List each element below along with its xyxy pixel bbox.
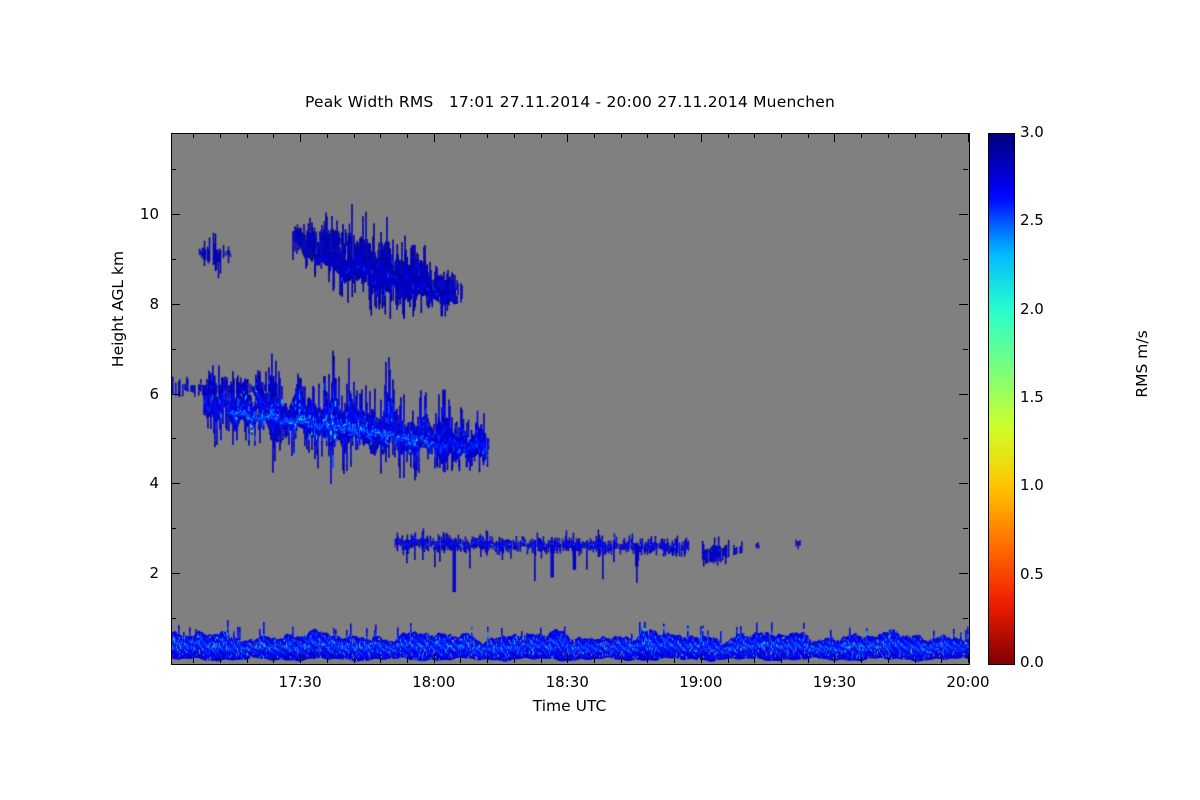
x-minor-tick bbox=[781, 658, 782, 663]
y-major-tick bbox=[171, 483, 180, 484]
x-minor-tick-top bbox=[541, 133, 542, 138]
y-tick-label: 10 bbox=[125, 205, 159, 223]
x-minor-tick-top bbox=[621, 133, 622, 138]
y-major-tick bbox=[171, 394, 180, 395]
y-axis-title: Height AGL km bbox=[109, 189, 127, 429]
x-minor-tick bbox=[647, 658, 648, 663]
colorbar-tick-label: 2.5 bbox=[1020, 211, 1066, 229]
y-minor-tick bbox=[171, 259, 176, 260]
x-minor-tick bbox=[220, 658, 221, 663]
x-minor-tick-top bbox=[888, 133, 889, 138]
x-minor-tick bbox=[193, 658, 194, 663]
x-minor-tick bbox=[674, 658, 675, 663]
x-minor-tick bbox=[915, 658, 916, 663]
colorbar-tick-label: 0.0 bbox=[1020, 653, 1066, 671]
y-major-tick-right bbox=[959, 304, 968, 305]
x-major-tick bbox=[434, 654, 435, 663]
y-minor-tick-right bbox=[963, 438, 968, 439]
x-tick-label: 19:00 bbox=[666, 673, 736, 691]
x-minor-tick bbox=[888, 658, 889, 663]
y-major-tick bbox=[171, 214, 180, 215]
x-minor-tick-top bbox=[674, 133, 675, 138]
x-minor-tick-top bbox=[861, 133, 862, 138]
heatmap-canvas bbox=[172, 134, 969, 664]
x-minor-tick-top bbox=[808, 133, 809, 138]
x-minor-tick bbox=[354, 658, 355, 663]
x-minor-tick bbox=[407, 658, 408, 663]
plot-area bbox=[171, 133, 970, 665]
x-minor-tick-top bbox=[220, 133, 221, 138]
y-minor-tick-right bbox=[963, 169, 968, 170]
colorbar-title: RMS m/s bbox=[1133, 294, 1151, 434]
x-minor-tick bbox=[487, 658, 488, 663]
x-major-tick-top bbox=[567, 133, 568, 142]
x-minor-tick bbox=[514, 658, 515, 663]
x-minor-tick-top bbox=[460, 133, 461, 138]
x-minor-tick bbox=[380, 658, 381, 663]
x-minor-tick bbox=[808, 658, 809, 663]
y-minor-tick bbox=[171, 618, 176, 619]
x-axis-title: Time UTC bbox=[171, 697, 968, 715]
colorbar bbox=[988, 133, 1015, 665]
y-minor-tick bbox=[171, 169, 176, 170]
y-minor-tick-right bbox=[963, 528, 968, 529]
x-minor-tick-top bbox=[273, 133, 274, 138]
x-minor-tick-top bbox=[487, 133, 488, 138]
x-minor-tick-top bbox=[407, 133, 408, 138]
x-major-tick bbox=[834, 654, 835, 663]
y-minor-tick-right bbox=[963, 349, 968, 350]
y-major-tick-right bbox=[959, 483, 968, 484]
x-tick-label: 18:30 bbox=[532, 673, 602, 691]
colorbar-tick-label: 1.0 bbox=[1020, 476, 1066, 494]
plot-title: Peak Width RMS 17:01 27.11.2014 - 20:00 … bbox=[0, 93, 1140, 111]
y-minor-tick-right bbox=[963, 259, 968, 260]
x-minor-tick bbox=[273, 658, 274, 663]
y-major-tick bbox=[171, 304, 180, 305]
x-minor-tick-top bbox=[514, 133, 515, 138]
y-minor-tick bbox=[171, 528, 176, 529]
x-major-tick-top bbox=[834, 133, 835, 142]
x-minor-tick-top bbox=[941, 133, 942, 138]
y-minor-tick-right bbox=[963, 618, 968, 619]
colorbar-tick-label: 1.5 bbox=[1020, 388, 1066, 406]
x-tick-label: 18:00 bbox=[399, 673, 469, 691]
y-major-tick-right bbox=[959, 394, 968, 395]
x-tick-label: 19:30 bbox=[799, 673, 869, 691]
x-minor-tick-top bbox=[728, 133, 729, 138]
x-minor-tick bbox=[541, 658, 542, 663]
y-tick-label: 2 bbox=[125, 564, 159, 582]
x-major-tick-top bbox=[434, 133, 435, 142]
x-minor-tick bbox=[327, 658, 328, 663]
x-major-tick bbox=[968, 654, 969, 663]
x-major-tick bbox=[300, 654, 301, 663]
x-minor-tick-top bbox=[915, 133, 916, 138]
x-major-tick bbox=[567, 654, 568, 663]
x-minor-tick-top bbox=[594, 133, 595, 138]
colorbar-tick-label: 0.5 bbox=[1020, 565, 1066, 583]
x-minor-tick bbox=[460, 658, 461, 663]
x-minor-tick-top bbox=[647, 133, 648, 138]
x-minor-tick bbox=[594, 658, 595, 663]
y-major-tick-right bbox=[959, 214, 968, 215]
x-tick-label: 20:00 bbox=[933, 673, 1003, 691]
y-tick-label: 4 bbox=[125, 474, 159, 492]
x-minor-tick-top bbox=[354, 133, 355, 138]
y-tick-label: 6 bbox=[125, 385, 159, 403]
y-minor-tick bbox=[171, 349, 176, 350]
x-minor-tick bbox=[941, 658, 942, 663]
x-tick-label: 17:30 bbox=[265, 673, 335, 691]
plot-figure: Peak Width RMS 17:01 27.11.2014 - 20:00 … bbox=[0, 0, 1200, 800]
x-minor-tick-top bbox=[754, 133, 755, 138]
x-minor-tick bbox=[754, 658, 755, 663]
x-minor-tick bbox=[247, 658, 248, 663]
colorbar-tick-label: 3.0 bbox=[1020, 123, 1066, 141]
y-tick-label: 8 bbox=[125, 295, 159, 313]
x-minor-tick bbox=[621, 658, 622, 663]
y-major-tick-right bbox=[959, 573, 968, 574]
x-minor-tick bbox=[728, 658, 729, 663]
colorbar-gradient bbox=[989, 134, 1014, 664]
x-minor-tick-top bbox=[781, 133, 782, 138]
x-major-tick bbox=[701, 654, 702, 663]
x-minor-tick-top bbox=[193, 133, 194, 138]
x-minor-tick-top bbox=[247, 133, 248, 138]
y-minor-tick bbox=[171, 438, 176, 439]
colorbar-tick-label: 2.0 bbox=[1020, 300, 1066, 318]
x-minor-tick-top bbox=[327, 133, 328, 138]
x-minor-tick bbox=[861, 658, 862, 663]
y-major-tick bbox=[171, 573, 180, 574]
x-major-tick-top bbox=[701, 133, 702, 142]
x-major-tick-top bbox=[968, 133, 969, 142]
x-major-tick-top bbox=[300, 133, 301, 142]
x-minor-tick-top bbox=[380, 133, 381, 138]
